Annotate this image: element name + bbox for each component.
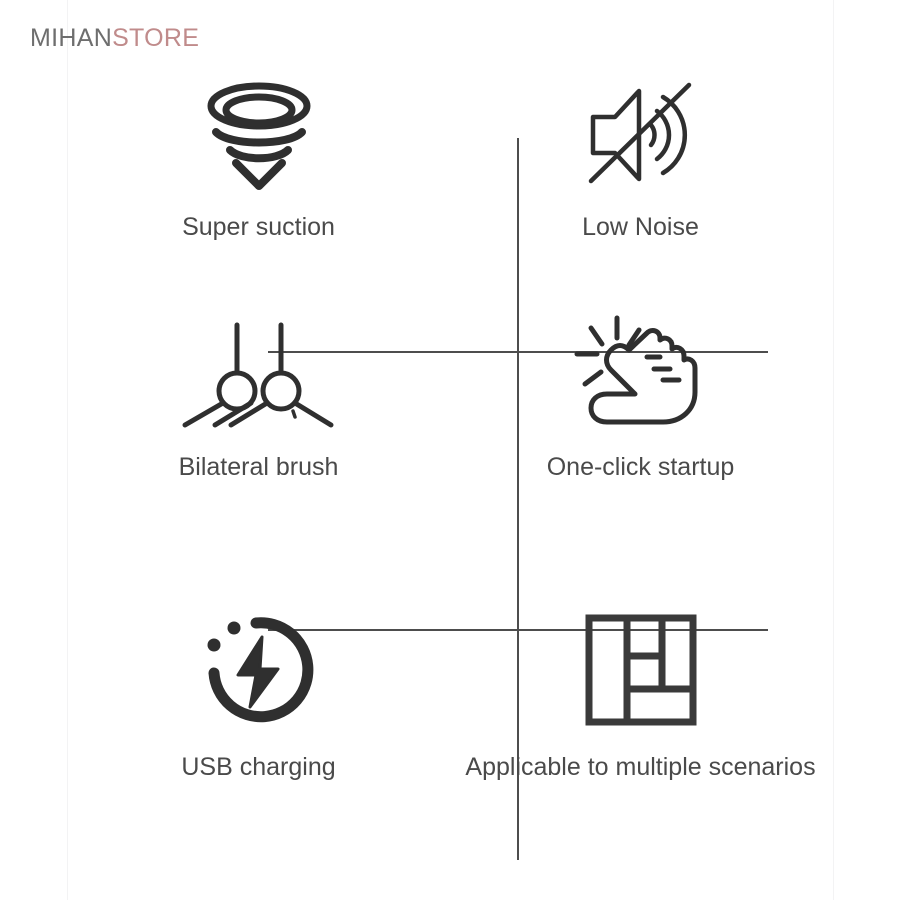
speaker-muted-icon <box>581 70 701 200</box>
feature-label: One-click startup <box>547 454 735 482</box>
tornado-icon <box>199 70 319 200</box>
feature-item-low-noise: Low Noise <box>449 70 832 242</box>
feature-label: Super suction <box>182 214 335 242</box>
charging-bolt-icon <box>200 600 318 740</box>
feature-item-one-click-startup: One-click startup <box>449 310 832 482</box>
canvas-right-seam <box>833 0 834 900</box>
feature-item-super-suction: Super suction <box>68 70 449 242</box>
brand-watermark: MIHANSTORE <box>30 26 199 51</box>
layout-grid-icon <box>584 600 698 740</box>
feature-label: Applicable to multiple scenarios <box>465 754 815 782</box>
feature-label: USB charging <box>181 754 335 782</box>
bilateral-brush-icon <box>179 310 339 440</box>
brand-text-primary: MIHAN <box>30 24 112 52</box>
click-hand-icon <box>571 310 711 440</box>
feature-item-multiple-scenarios: Applicable to multiple scenarios <box>449 600 832 782</box>
feature-label: Low Noise <box>582 214 699 242</box>
feature-item-bilateral-brush: Bilateral brush <box>68 310 449 482</box>
feature-grid: Super suction Low Noise <box>68 60 832 820</box>
feature-item-usb-charging: USB charging <box>68 600 449 782</box>
feature-label: Bilateral brush <box>179 454 339 482</box>
brand-text-secondary: STORE <box>112 24 199 52</box>
feature-infographic: MIHANSTORE Super suction <box>0 0 900 900</box>
